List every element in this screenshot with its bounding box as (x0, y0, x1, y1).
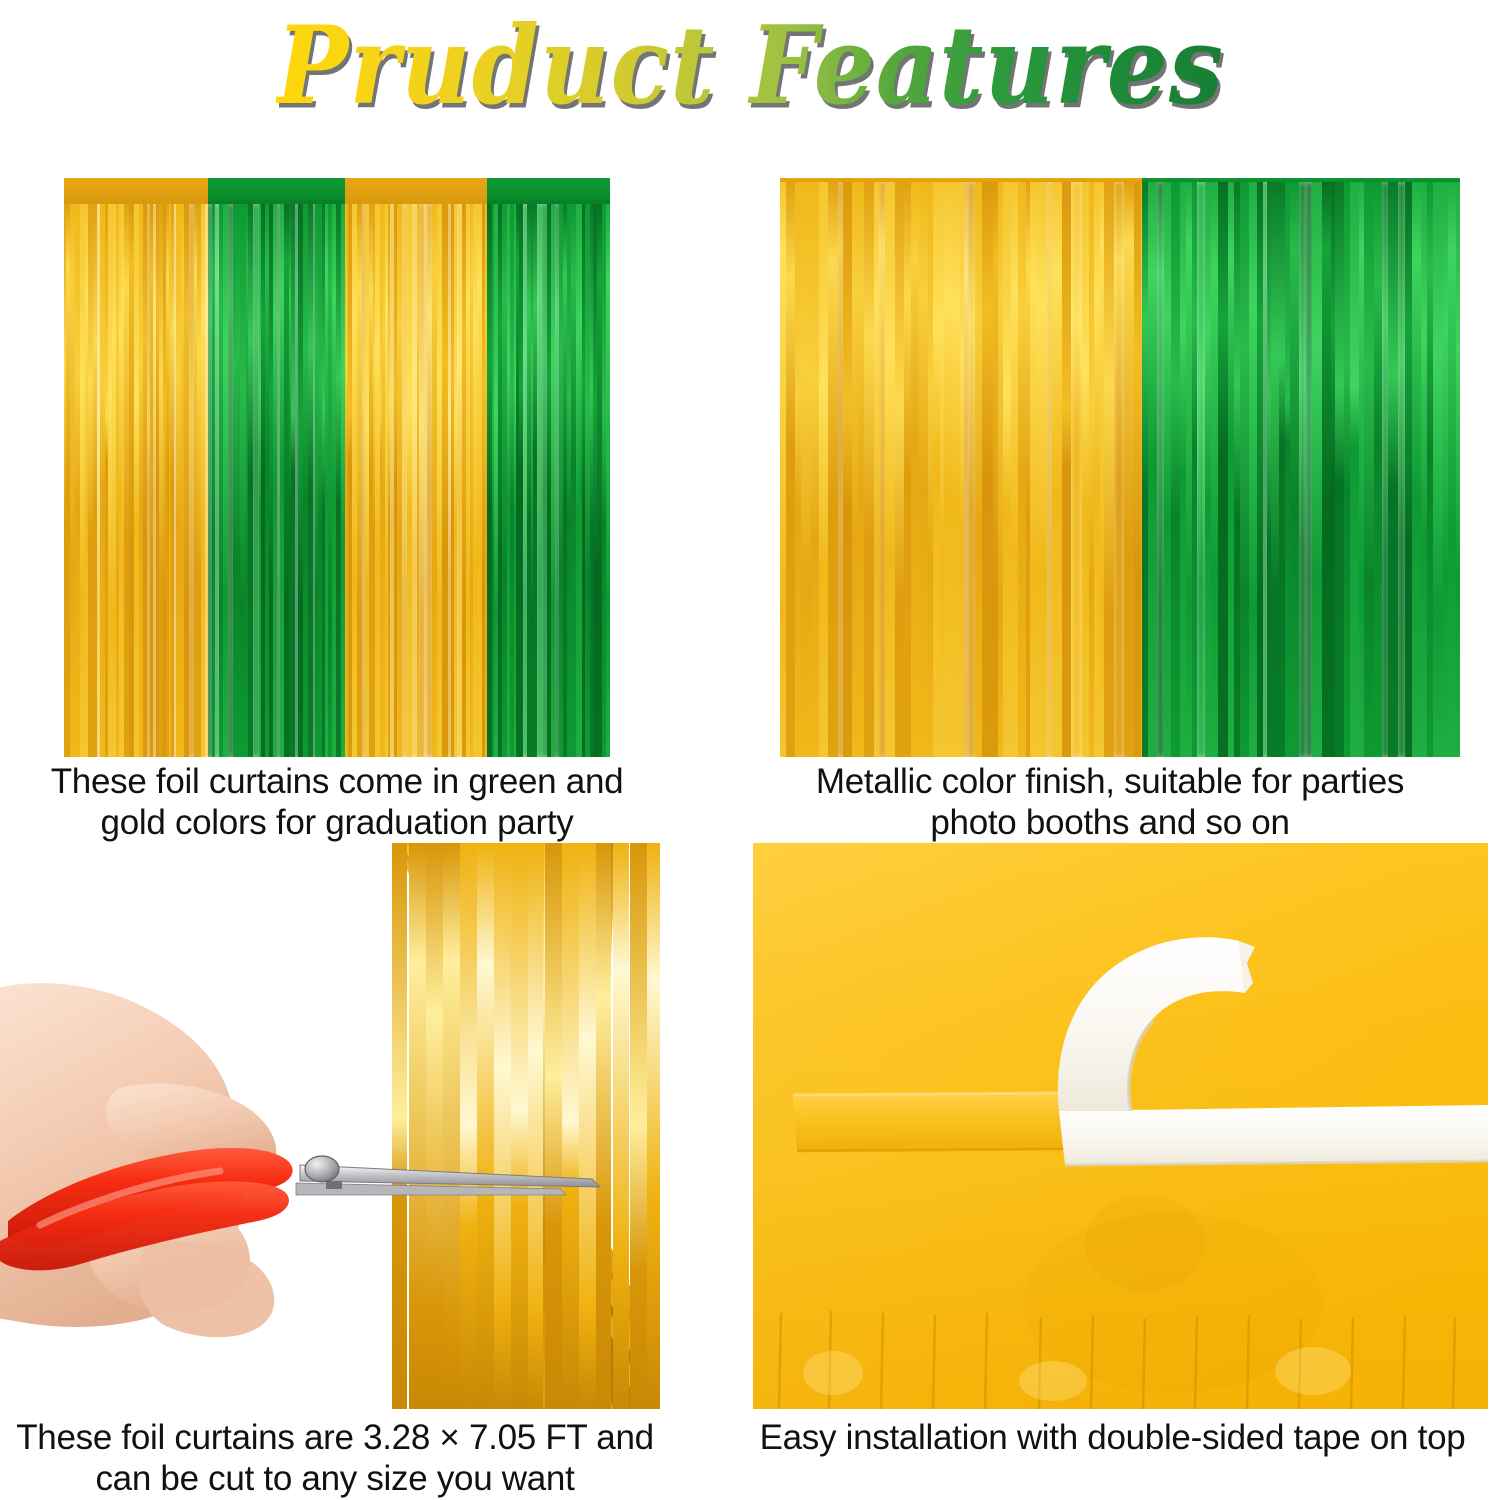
caption-curtain-wide: These foil curtains come in green and go… (20, 762, 654, 844)
foil-strand (819, 182, 828, 757)
foil-strand (1271, 182, 1279, 757)
curtain-fringe (1142, 182, 1460, 757)
foil-strand (1388, 182, 1397, 757)
foil-strand (1290, 182, 1299, 757)
foil-strand (1018, 182, 1026, 757)
foil-strand (1364, 182, 1374, 757)
foil-strand (1148, 182, 1158, 757)
foil-strand (911, 182, 919, 757)
curtain-fringe (64, 204, 208, 757)
metallic-finish-closeup-photo (780, 178, 1460, 757)
adhesive-strip-left-edge (793, 1093, 1059, 1095)
foil-strand (828, 182, 839, 757)
foil-strand (951, 182, 960, 757)
double-sided-tape-photo (753, 843, 1488, 1409)
foil-strand (1003, 182, 1011, 757)
foil-strand (895, 182, 904, 757)
foil-strand (1374, 182, 1382, 757)
foil-strand (1062, 182, 1071, 757)
foil-strand (1071, 182, 1081, 757)
foil-strand (1249, 182, 1257, 757)
curtain-fringe (780, 182, 1142, 757)
foil-strand (919, 182, 929, 757)
caption-line: These foil curtains come in green and (20, 762, 654, 803)
caption-line: gold colors for graduation party (20, 803, 654, 844)
curtain-header-band (208, 178, 345, 206)
page-title-container: Pruduct Features (0, 6, 1500, 124)
curtain-panel-gold (345, 178, 487, 757)
cutting-curtain-with-scissors-photo (0, 843, 660, 1409)
foil-strand (811, 182, 819, 757)
caption-tape: Easy installation with double-sided tape… (740, 1418, 1485, 1459)
curtain-panel-green (1142, 178, 1460, 757)
foil-strand (1171, 182, 1180, 757)
foil-strand (1218, 182, 1228, 757)
foil-strand (1197, 182, 1205, 757)
foil-strand (982, 182, 993, 757)
foil-strand (1312, 182, 1322, 757)
caption-line: can be cut to any size you want (10, 1459, 660, 1500)
green-and-gold-foil-curtain-photo (64, 178, 610, 757)
caption-line: photo booths and so on (760, 803, 1460, 844)
curtain-header-band (345, 178, 487, 206)
hand-with-scissors-illustration (0, 843, 660, 1409)
tape-illustration (753, 843, 1488, 1409)
caption-line: Easy installation with double-sided tape… (740, 1418, 1485, 1459)
foil-strand (885, 182, 895, 757)
page-title: Pruduct Features (276, 2, 1224, 129)
curtain-header-band (487, 178, 610, 206)
foil-strand (1350, 182, 1359, 757)
curtain-header-band (64, 178, 208, 206)
caption-scissors: These foil curtains are 3.28 × 7.05 FT a… (10, 1418, 660, 1500)
curtain-fringe (487, 204, 610, 757)
foil-strand (1114, 182, 1125, 757)
foil-strand (1322, 182, 1331, 757)
scissor-blade-upper (300, 1165, 600, 1187)
foil-strand (1037, 182, 1047, 757)
foil-strand (1052, 182, 1062, 757)
foil-strand (1412, 182, 1422, 757)
foil-strand (1456, 182, 1460, 757)
caption-line: These foil curtains are 3.28 × 7.05 FT a… (10, 1418, 660, 1459)
foil-strand (843, 182, 852, 757)
adhesive-strip-left (793, 1093, 1065, 1151)
foil-crease-shadow (1085, 1195, 1205, 1291)
caption-line: Metallic color finish, suitable for part… (760, 762, 1460, 803)
curtain-fringe (345, 204, 487, 757)
tape-liner-horizontal (1059, 1105, 1488, 1165)
curtain-panel-green (208, 178, 345, 757)
foil-strand (1240, 182, 1248, 757)
curtain-panel-gold (780, 178, 1142, 757)
caption-curtain-closeup: Metallic color finish, suitable for part… (760, 762, 1460, 844)
foil-strand (1433, 182, 1443, 757)
foil-strand (1104, 182, 1114, 757)
scissor-pivot-screw (305, 1156, 339, 1182)
hand-ring-finger (138, 1241, 274, 1337)
foil-strand (786, 182, 796, 757)
curtain-panel-gold (64, 178, 208, 757)
curtain-fringe (208, 204, 345, 757)
foil-strand (864, 182, 875, 757)
scissor-blade-notch (326, 1181, 342, 1189)
foil-strand (1335, 182, 1344, 757)
foil-strand (801, 182, 811, 757)
foil-strand (1124, 182, 1134, 757)
curtain-panel-green (487, 178, 610, 757)
